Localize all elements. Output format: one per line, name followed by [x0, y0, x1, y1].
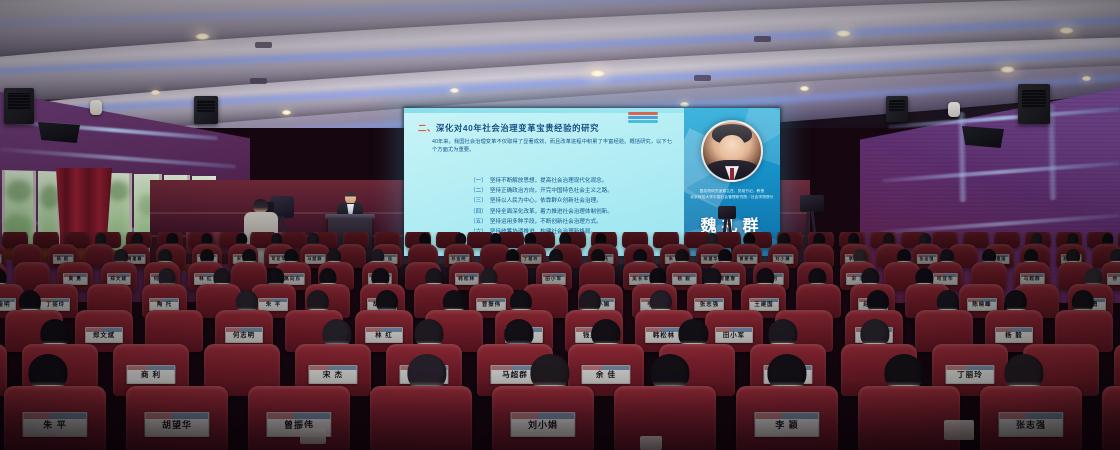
placard-name: 田小军: [723, 330, 745, 339]
ceiling-downlight: [450, 88, 459, 93]
seat-name-placard: 田小军: [542, 273, 566, 285]
slide-title-number: 二、: [418, 123, 436, 133]
seat-name-placard: 余 佳: [581, 365, 630, 385]
ceiling-downlight: [1082, 76, 1091, 81]
placard-name: 郑文斌: [110, 276, 127, 282]
loudspeaker: [1018, 84, 1050, 124]
placard-name: 刘小娟: [775, 256, 790, 262]
placard-name: 张志强: [919, 256, 934, 262]
audience-seat: [370, 386, 472, 450]
ceiling-vent: [250, 78, 267, 84]
placard-name: 孙金明: [451, 256, 466, 262]
seat-name-placard: 朱 平: [22, 412, 87, 436]
audience-seat: 朱 平: [4, 386, 106, 450]
placard-name: 宋 杰: [323, 369, 343, 380]
placard-name: 韩松林: [458, 276, 475, 282]
ceiling-downlight: [151, 90, 160, 95]
list-item: （三）坚持以人民为中心，依靠群众创新社会治理。: [470, 196, 720, 206]
list-item-text: 坚持以人民为中心，依靠群众创新社会治理。: [490, 198, 602, 204]
list-item-text: 坚持全面深化改革，着力推进社会治理体制创新。: [490, 209, 613, 215]
seat-name-placard: 何志明: [225, 327, 263, 343]
podium-top: [325, 214, 375, 219]
speaker-affiliation: 国务院研究室原主任、党组书记，教授 北京师范大学中国社会管理研究院／社会学院院长: [690, 188, 774, 200]
ceiling-downlight: [590, 70, 605, 77]
list-item: （四）坚持全面深化改革，着力推进社会治理体制创新。: [470, 207, 720, 217]
placard-name: 丁丽玲: [46, 300, 65, 308]
placard-name: 张志强: [700, 300, 719, 308]
placard-name: 林 红: [375, 330, 393, 339]
list-item-index: （五）: [470, 219, 487, 225]
ceiling-vent: [754, 36, 771, 42]
list-item-index: （三）: [470, 198, 487, 204]
wireless-access-point-icon: [948, 102, 960, 117]
ceiling-vent: [694, 75, 711, 81]
placard-name: 朱 平: [266, 300, 281, 308]
seat-name-placard: 陈晓峰: [967, 298, 997, 312]
audience-seat: 刘小娟: [492, 386, 594, 450]
seat-name-placard: 郑文斌: [107, 273, 131, 285]
seat-name-placard: 张志强: [998, 412, 1063, 436]
placard-name: 商 利: [141, 369, 161, 380]
list-item-text: 坚持正确政治方向，开完中国特色社会主义之路。: [490, 188, 613, 194]
audience-seat: 李 颖: [736, 386, 838, 450]
list-item: （二）坚持正确政治方向，开完中国特色社会主义之路。: [470, 186, 720, 196]
list-item: （一）坚持不断解放思想，提高社会治理现代化观念。: [470, 176, 720, 186]
placard-name: 余 佳: [596, 369, 616, 380]
placard-name: 陶 托: [157, 300, 172, 308]
ceiling-downlight: [1059, 27, 1074, 34]
slide-title-text: 深化对40年社会治理变革宝贵经验的研究: [436, 123, 599, 133]
placard-name: 田小军: [545, 276, 562, 282]
ceiling-downlight: [1000, 66, 1015, 73]
ceiling-downlight: [195, 33, 210, 40]
seat-name-placard: 刘小娟: [510, 412, 575, 436]
seat-name-placard: 胡望华: [144, 412, 209, 436]
placard-name: 何志明: [233, 330, 255, 339]
seat-name-placard: 黄 勇: [63, 273, 87, 285]
placard-name: 胡望华: [162, 418, 192, 431]
placard-name: 李 颖: [775, 418, 799, 431]
loudspeaker: [886, 96, 908, 122]
tote-bag: [640, 436, 662, 450]
portrait-face: [719, 135, 746, 161]
placard-name: 丁丽玲: [957, 369, 983, 380]
seat-name-placard: 丁丽玲: [945, 365, 994, 385]
audience-seating: 吴长军杨 毅周建春商 利宋 杰司亚华马超群余 佳孙金明丁丽玲陶 托朱 平胡望华曾…: [0, 232, 1120, 450]
placard-name: 黄 勇: [68, 276, 81, 282]
placard-name: 郑文斌: [93, 330, 115, 339]
camera-body: [800, 195, 824, 212]
list-item-text: 坚持不断解放思想，提高社会治理现代化观念。: [490, 178, 607, 184]
seat-name-placard: 田小军: [715, 327, 753, 343]
list-item-index: （一）: [470, 178, 487, 184]
seat-name-placard: 商 利: [126, 365, 175, 385]
placard-name: 杨 毅: [57, 256, 69, 262]
foliage: [6, 180, 32, 202]
slide-title: 二、深化对40年社会治理变革宝贵经验的研究: [418, 122, 599, 134]
loudspeaker: [194, 96, 218, 124]
placard-name: 曾振伟: [739, 256, 754, 262]
speaker-portrait: [701, 120, 763, 182]
speaker-affiliation-line-2: 北京师范大学中国社会管理研究院／社会学院院长: [690, 194, 774, 200]
audience-seat: [858, 386, 960, 450]
seat-name-placard: 郑文斌: [85, 327, 123, 343]
placard-name: 刘小娟: [528, 418, 558, 431]
placard-name: 马超群: [307, 256, 322, 262]
slide-lead-paragraph: 40年来，我国社会治理变革不仅取得了显著成效，而且改革进程中积累了丰富经验。概括…: [432, 138, 672, 154]
seat-name-placard: 李 颖: [754, 412, 819, 436]
wall-light-strip: [957, 112, 967, 202]
ceiling-vent: [255, 42, 272, 48]
seat-name-placard: 林 红: [365, 327, 403, 343]
list-item-index: （四）: [470, 209, 487, 215]
portrait-tie: [730, 168, 735, 181]
conference-hall-photo: 二、深化对40年社会治理变革宝贵经验的研究 40年来，我国社会治理变革不仅取得了…: [0, 0, 1120, 450]
placard-name: 曾振伟: [482, 300, 501, 308]
placard-name: 朱 平: [43, 418, 67, 431]
tote-bag: [944, 420, 974, 440]
placard-name: 丁丽玲: [523, 256, 538, 262]
ceiling-projector: [38, 122, 80, 143]
list-item-text: 坚持运用多种手段，不断创新社会治理方式。: [490, 219, 602, 225]
ceiling-projector: [962, 126, 1004, 148]
placard-name: 张志强: [1016, 418, 1046, 431]
placard-name: 司亚华: [937, 276, 954, 282]
seat-name-placard: 杨 毅: [995, 327, 1033, 343]
ceiling-downlight: [680, 102, 689, 107]
seat-name-placard: 马超群: [1020, 273, 1044, 285]
placard-name: 余 佳: [1112, 276, 1120, 282]
loudspeaker: [4, 88, 34, 124]
placard-name: 马超群: [1024, 276, 1041, 282]
seat-name-placard: 宋 杰: [308, 365, 357, 385]
conference-logo-icon: [628, 110, 658, 128]
foliage: [40, 185, 60, 209]
list-item-index: （二）: [470, 188, 487, 194]
placard-name: 孙金明: [0, 300, 11, 308]
placard-name: 杨 毅: [677, 276, 690, 282]
camera-body: [718, 206, 736, 219]
ceiling-downlight: [282, 110, 291, 115]
ceiling-downlight: [800, 86, 809, 91]
seat-name-placard: 余 佳: [1107, 273, 1120, 285]
audience-seat: 曾振伟: [248, 386, 350, 450]
placard-name: 王建国: [754, 300, 773, 308]
tote-bag: [300, 428, 326, 444]
audience-seat: 张志强: [980, 386, 1082, 450]
wireless-access-point-icon: [90, 100, 102, 115]
audience-seat: [614, 386, 716, 450]
seat-name-placard: 杨 毅: [672, 273, 696, 285]
placard-name: 陈晓峰: [972, 300, 991, 308]
seat-name-placard: 曾振伟: [477, 298, 507, 312]
ceiling-downlight: [836, 30, 851, 37]
placard-name: 杨 毅: [1005, 330, 1023, 339]
audience-seat: [1102, 386, 1120, 450]
audience-seat: 胡望华: [126, 386, 228, 450]
slide-bullet-list: （一）坚持不断解放思想，提高社会治理现代化观念。 （二）坚持正确政治方向，开完中…: [430, 176, 720, 237]
operator-head: [253, 199, 268, 213]
list-item: （五）坚持运用多种手段，不断创新社会治理方式。: [470, 217, 720, 227]
